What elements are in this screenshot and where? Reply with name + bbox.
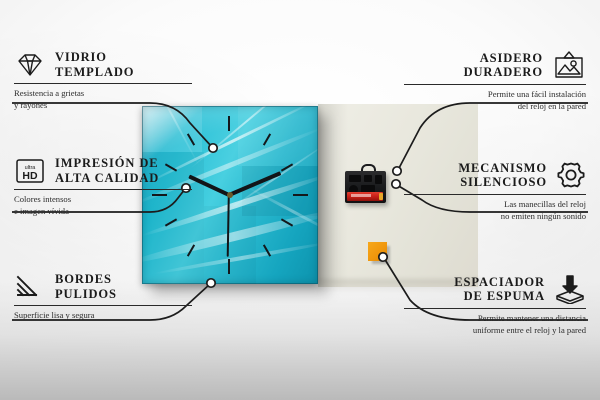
feature-subtitle-line2: e imagen vívida — [14, 206, 192, 217]
feature-header: BORDES PULIDOS — [14, 272, 192, 301]
feature-underline — [404, 308, 586, 309]
feature-mecanismo-silencioso: MECANISMO SILENCIOSO Las manecillas del … — [404, 160, 586, 222]
down-arrow-pad-icon — [554, 274, 586, 304]
diamond-icon — [14, 52, 46, 78]
feature-title: IMPRESIÓN DE ALTA CALIDAD — [55, 156, 159, 185]
feature-subtitle-line2: uniforme entre el reloj y la pared — [404, 325, 586, 336]
svg-text:HD: HD — [22, 170, 38, 182]
feature-header: ultra HD IMPRESIÓN DE ALTA CALIDAD — [14, 156, 192, 185]
feature-underline — [404, 194, 586, 195]
feature-asidero-duradero: ASIDERO DURADERO Permite una fácil insta… — [404, 50, 586, 112]
feature-title: ASIDERO DURADERO — [464, 51, 543, 80]
foam-spacer — [368, 242, 387, 261]
feature-title: VIDRIO TEMPLADO — [55, 50, 134, 79]
feature-subtitle-line2: y rayones — [14, 100, 192, 111]
clock-tick — [293, 194, 308, 196]
feature-title: BORDES PULIDOS — [55, 272, 117, 301]
feature-vidrio-templado: VIDRIO TEMPLADO Resistencia a grietas y … — [14, 50, 192, 111]
feature-subtitle-line1: Colores intensos — [14, 194, 192, 205]
clock-tick — [228, 116, 230, 131]
feature-subtitle-line1: Permite mantener una distancia — [404, 313, 586, 324]
feature-title: ESPACIADOR DE ESPUMA — [454, 275, 545, 304]
feature-underline — [14, 189, 192, 190]
feature-espaciador-espuma: ESPACIADOR DE ESPUMA Permite mantener un… — [404, 274, 586, 336]
gear-icon — [556, 160, 586, 190]
feature-subtitle-line1: Permite una fácil instalación — [404, 89, 586, 100]
feature-header: ESPACIADOR DE ESPUMA — [404, 274, 586, 304]
feature-underline — [14, 83, 192, 84]
framed-picture-icon — [552, 50, 586, 80]
infographic-canvas: VIDRIO TEMPLADO Resistencia a grietas y … — [0, 0, 600, 400]
feature-header: VIDRIO TEMPLADO — [14, 50, 192, 79]
battery-terminal — [379, 193, 383, 200]
feature-subtitle-line2: no emiten ningún sonido — [404, 211, 586, 222]
feature-subtitle-line1: Resistencia a grietas — [14, 88, 192, 99]
feature-header: ASIDERO DURADERO — [404, 50, 586, 80]
ultra-hd-icon: ultra HD — [14, 157, 46, 185]
clock-tick — [228, 259, 230, 274]
feature-bordes-pulidos: BORDES PULIDOS Superficie lisa y segura — [14, 272, 192, 322]
feature-underline — [404, 84, 586, 85]
battery-label — [351, 194, 371, 197]
feature-title: MECANISMO SILENCIOSO — [458, 161, 547, 190]
feature-header: MECANISMO SILENCIOSO — [404, 160, 586, 190]
feature-subtitle-line2: del reloj en la pared — [404, 101, 586, 112]
feature-subtitle-line1: Las manecillas del reloj — [404, 199, 586, 210]
clock-center-cap — [227, 192, 233, 198]
feature-underline — [14, 305, 192, 306]
diagonal-lines-icon — [14, 274, 46, 300]
feature-subtitle-line1: Superficie lisa y segura — [14, 310, 192, 321]
feature-impresion-alta-calidad: ultra HD IMPRESIÓN DE ALTA CALIDAD Color… — [14, 156, 192, 217]
